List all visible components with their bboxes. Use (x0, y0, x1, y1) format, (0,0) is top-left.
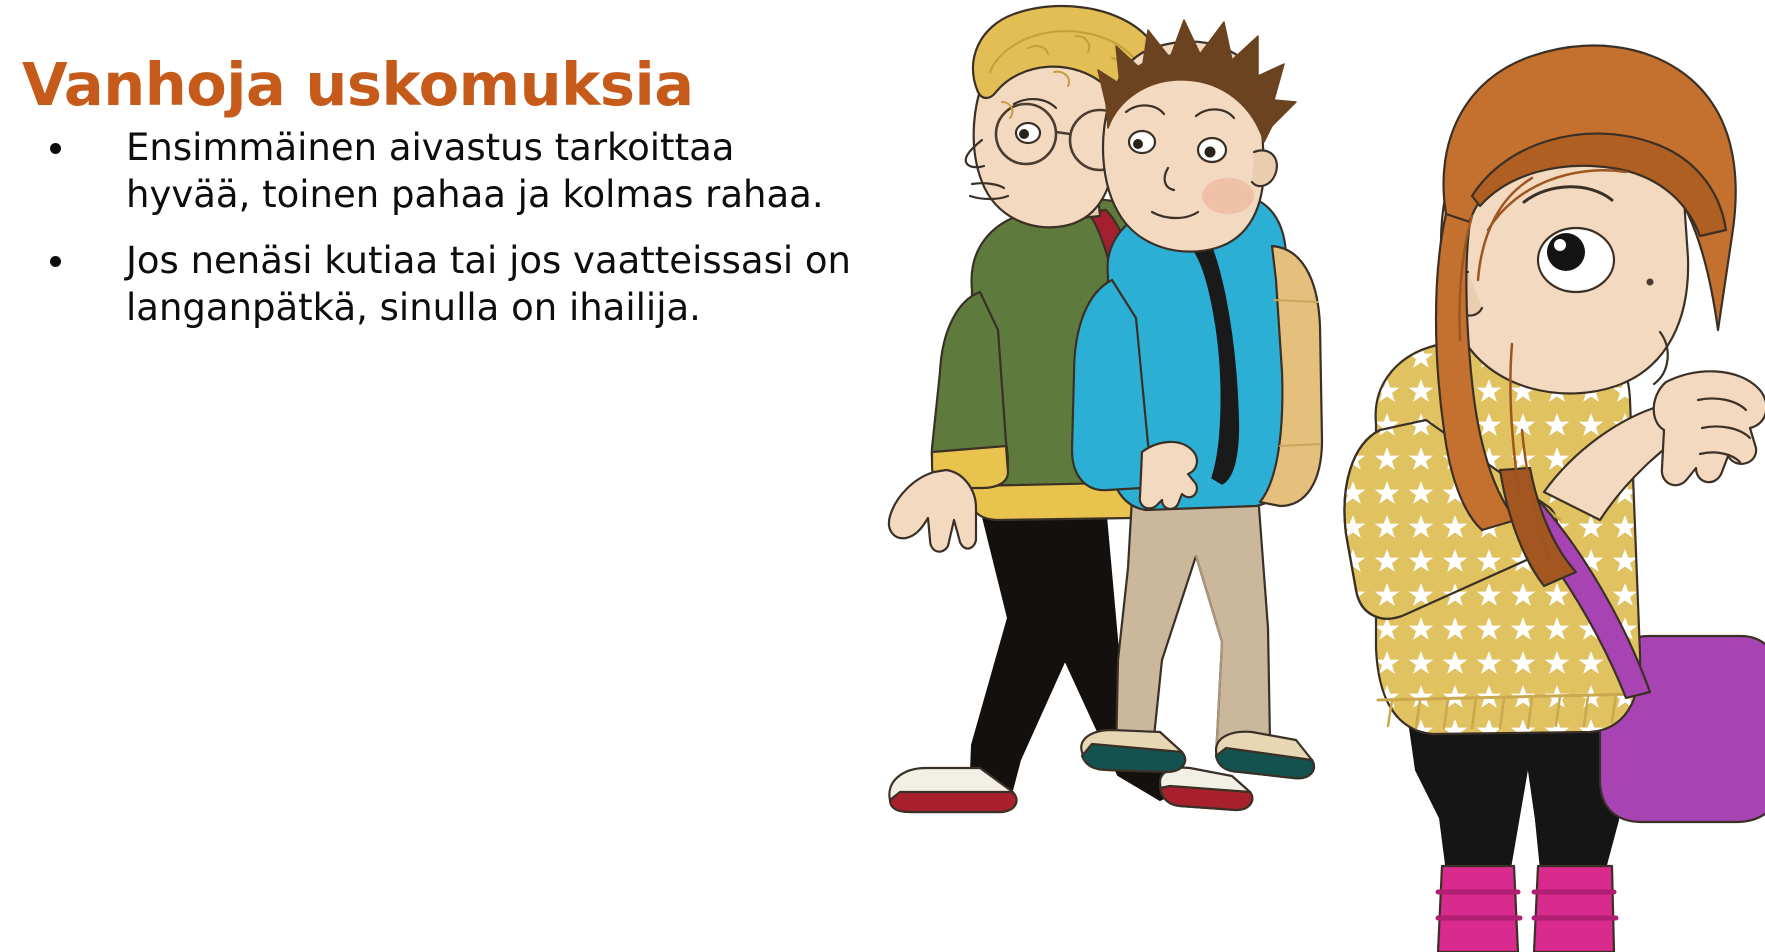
presentation-slide: Vanhoja uskomuksia Ensimmäinen aivastus … (0, 0, 1765, 952)
bullet-dot-icon (50, 143, 61, 154)
auburn-haired-girl (1344, 45, 1765, 952)
bullet-text: Jos nenäsi kutiaa tai jos vaatteissasi o… (126, 237, 858, 332)
list-item: Ensimmäinen aivastus tarkoittaa hyvää, t… (28, 124, 858, 219)
three-children-walking-illustration (860, 0, 1765, 952)
page-title: Vanhoja uskomuksia (22, 54, 922, 116)
list-item: Jos nenäsi kutiaa tai jos vaatteissasi o… (28, 237, 858, 332)
bullet-text: Ensimmäinen aivastus tarkoittaa hyvää, t… (126, 124, 858, 219)
bullet-dot-icon (50, 256, 61, 267)
bullet-list: Ensimmäinen aivastus tarkoittaa hyvää, t… (28, 124, 858, 349)
illustration-svg (860, 0, 1765, 952)
